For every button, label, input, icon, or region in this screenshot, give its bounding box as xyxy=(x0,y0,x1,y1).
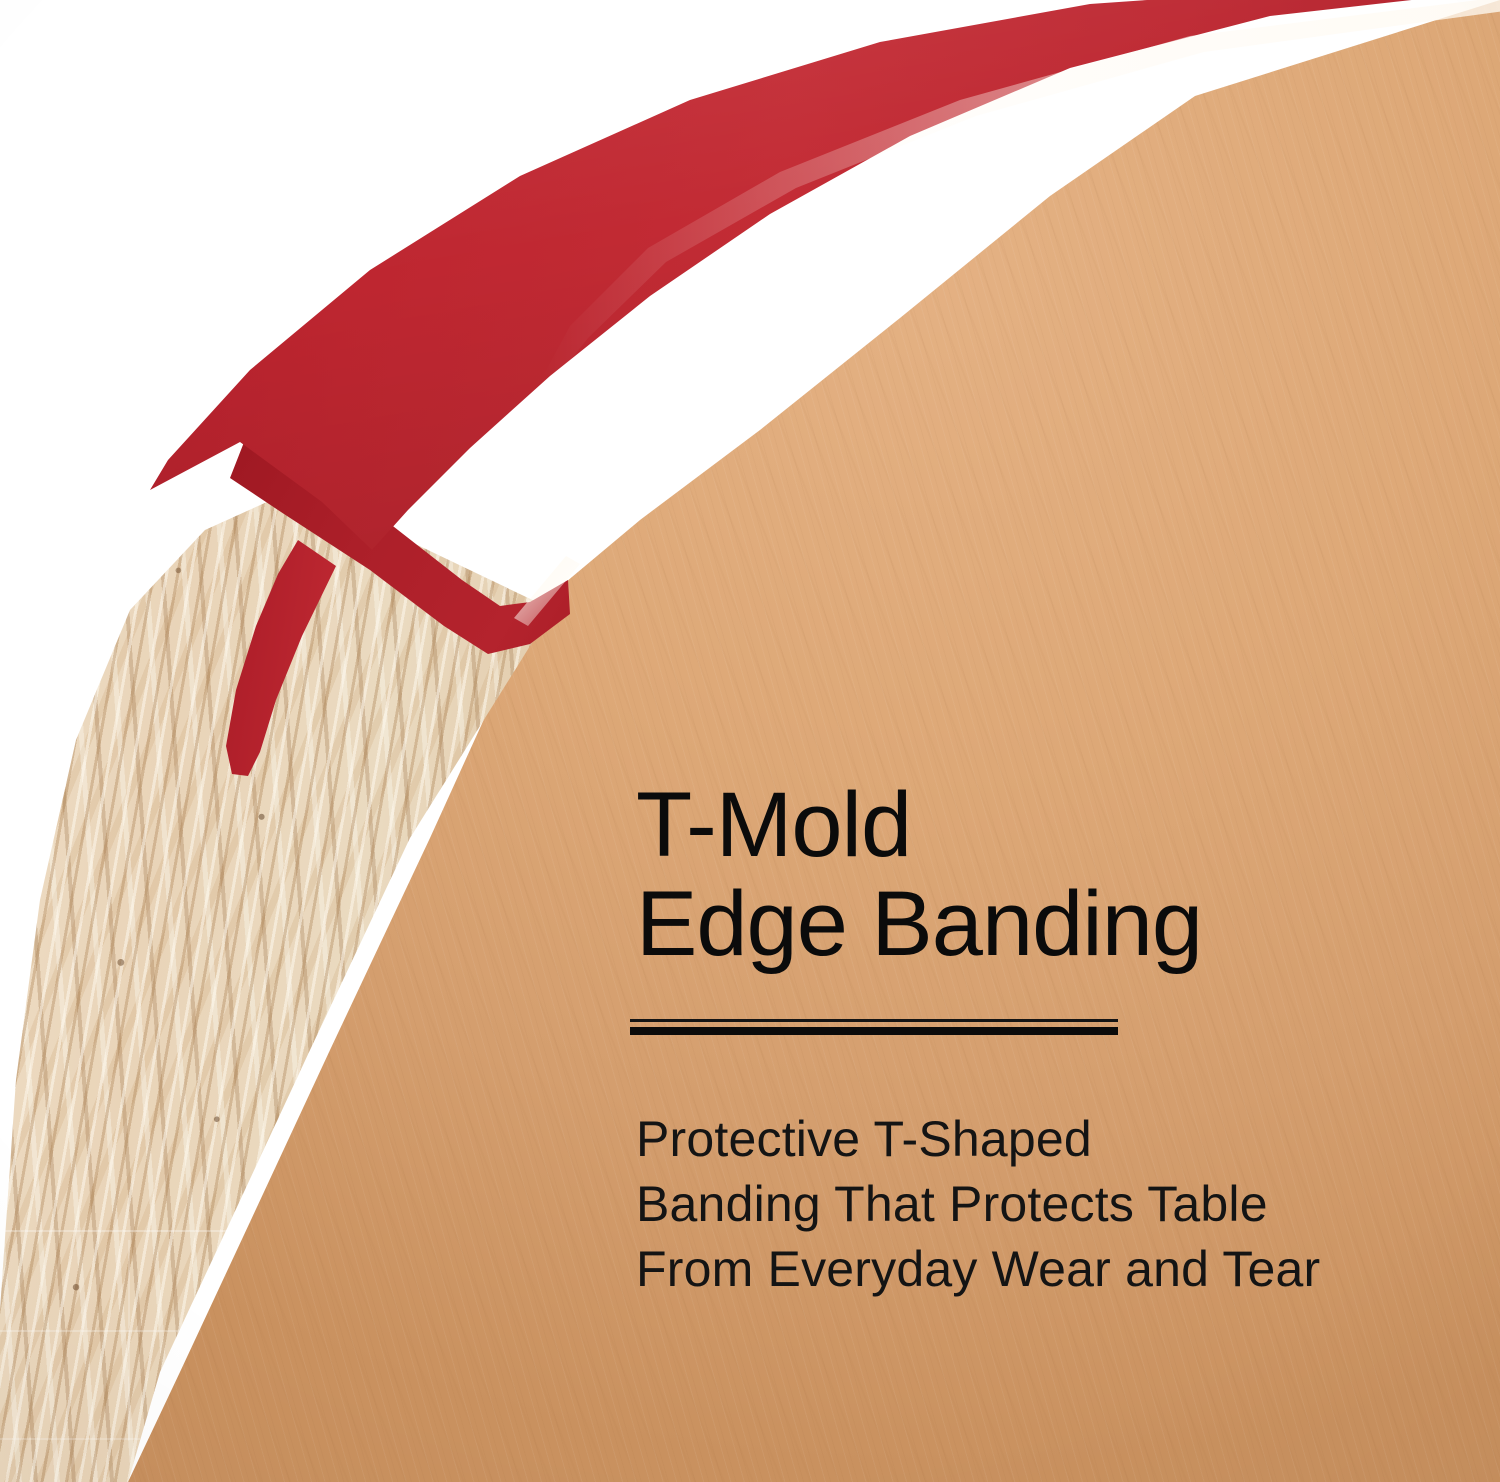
divider xyxy=(630,1019,1118,1035)
retouch-seam xyxy=(0,1438,140,1440)
retouch-seam xyxy=(0,1230,230,1232)
retouch-seam xyxy=(128,1240,130,1440)
copy-block: T-Mold Edge Banding Protective T-Shaped … xyxy=(636,776,1436,1302)
divider-rule-thick xyxy=(630,1027,1118,1035)
product-feature-image: T-Mold Edge Banding Protective T-Shaped … xyxy=(0,0,1500,1482)
page-title: T-Mold Edge Banding xyxy=(636,776,1436,975)
retouch-seam xyxy=(0,1330,180,1332)
feature-description: Protective T-Shaped Banding That Protect… xyxy=(636,1107,1436,1302)
